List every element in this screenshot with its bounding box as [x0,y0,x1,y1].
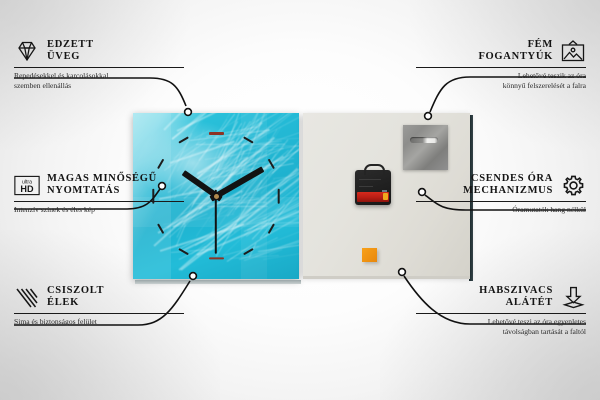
clock-center-cap [214,194,219,199]
feature-title: HABSZIVACSALÁTÉT [479,285,553,310]
feature-tempered-glass[interactable]: EDZETTÜVEG Repedésekkel és karcolásokkal… [14,38,184,90]
clock-mechanism [355,170,391,205]
foam-spacer-pad [362,248,377,262]
feature-title: EDZETTÜVEG [47,39,94,64]
infographic-canvas: EDZETTÜVEG Repedésekkel és karcolásokkal… [0,0,600,400]
feature-polished-edges[interactable]: CSISZOLTÉLEK Sima és biztonságos felület [14,284,184,327]
divider [416,67,586,68]
feature-foam-pad[interactable]: HABSZIVACSALÁTÉT Lehetővé teszi az óra e… [416,284,586,336]
divider [14,313,184,314]
hanger-slot [410,137,438,143]
feature-high-quality-print[interactable]: ultra HD MAGAS MINŐSÉGŰNYOMTATÁS Intenzí… [14,172,184,215]
feature-description: Lehetővé teszik az órakönnyű felszerelés… [416,71,586,90]
down-arrow-pad-icon [560,284,586,310]
feature-description: Lehetővé teszi az óra egyenletestávolság… [416,317,586,336]
feature-silent-mechanism[interactable]: CSENDES ÓRAMECHANIZMUS Óramutatók hang n… [416,172,586,215]
picture-hanger-icon [560,38,586,64]
ultra-hd-icon: ultra HD [14,172,40,198]
metal-hanger-plate [403,125,448,170]
divider [14,201,184,202]
mechanism-hook [364,164,385,175]
divider [416,201,586,202]
diamond-icon [14,38,40,64]
feature-description: Óramutatók hang nélkül [416,205,586,215]
feature-title: MAGAS MINŐSÉGŰNYOMTATÁS [47,173,157,198]
feature-title: CSENDES ÓRAMECHANIZMUS [463,173,553,198]
battery [357,192,389,202]
feature-description: Repedésekkel és karcolásokkalszemben ell… [14,71,184,90]
feature-title: CSISZOLTÉLEK [47,285,104,310]
feature-description: Sima és biztonságos felület [14,317,184,327]
gear-icon [560,172,586,198]
feature-title: FÉMFOGANTYÚK [478,39,553,64]
divider [14,67,184,68]
feature-description: Intenzív színek és éles kép [14,205,184,215]
svg-text:HD: HD [20,184,34,194]
diagonal-lines-icon [14,284,40,310]
clock-second-hand [215,190,217,254]
feature-metal-handles[interactable]: FÉMFOGANTYÚK Lehetővé teszik az órakönny… [416,38,586,90]
divider [416,313,586,314]
